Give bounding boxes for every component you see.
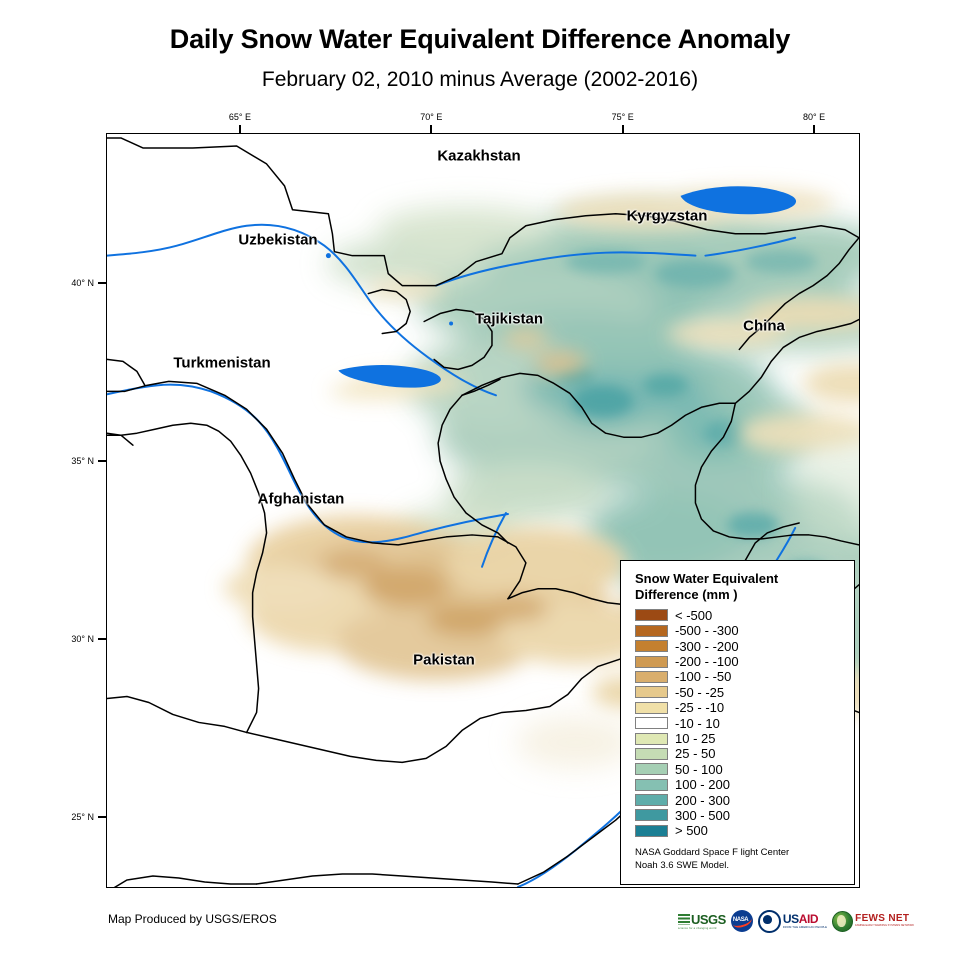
legend-row: 10 - 25 bbox=[635, 731, 844, 746]
legend-title: Snow Water Equivalent Difference (mm ) bbox=[635, 571, 844, 603]
lon-tick-mark-1 bbox=[430, 125, 432, 133]
lat-tick-mark-0 bbox=[98, 282, 106, 284]
legend-swatch bbox=[635, 779, 668, 791]
lat-tick-label-1: 35° N bbox=[58, 456, 94, 466]
map-legend: Snow Water Equivalent Difference (mm ) <… bbox=[620, 560, 855, 885]
legend-label: < -500 bbox=[675, 609, 712, 622]
legend-swatch bbox=[635, 625, 668, 637]
legend-label: 50 - 100 bbox=[675, 763, 723, 776]
legend-swatch bbox=[635, 686, 668, 698]
fews-wordmark: FEWS NET bbox=[855, 914, 914, 924]
legend-swatch bbox=[635, 640, 668, 652]
nasa-wordmark: NASA bbox=[733, 917, 748, 923]
legend-swatch bbox=[635, 825, 668, 837]
legend-label: > 500 bbox=[675, 824, 708, 837]
legend-swatch bbox=[635, 794, 668, 806]
lon-tick-label-2: 75° E bbox=[612, 112, 634, 122]
lat-tick-label-3: 25° N bbox=[58, 812, 94, 822]
lon-tick-label-3: 80° E bbox=[803, 112, 825, 122]
legend-label: 10 - 25 bbox=[675, 732, 715, 745]
usgs-logo: USGS science for a changing world bbox=[678, 909, 726, 933]
legend-label: 300 - 500 bbox=[675, 809, 730, 822]
legend-row: -50 - -25 bbox=[635, 685, 844, 700]
legend-row: -100 - -50 bbox=[635, 669, 844, 684]
legend-row: > 500 bbox=[635, 823, 844, 838]
country-label-kyrgyzstan: Kyrgyzstan bbox=[627, 208, 708, 225]
legend-label: -300 - -200 bbox=[675, 640, 739, 653]
usaid-seal-icon bbox=[758, 910, 781, 933]
legend-label: 25 - 50 bbox=[675, 747, 715, 760]
legend-label: -200 - -100 bbox=[675, 655, 739, 668]
legend-row: -500 - -300 bbox=[635, 623, 844, 638]
country-label-turkmenistan: Turkmenistan bbox=[173, 355, 270, 372]
legend-row: -10 - 10 bbox=[635, 715, 844, 730]
lon-tick-label-1: 70° E bbox=[420, 112, 442, 122]
country-label-kazakhstan: Kazakhstan bbox=[437, 148, 520, 165]
legend-swatch bbox=[635, 809, 668, 821]
legend-row: 300 - 500 bbox=[635, 808, 844, 823]
legend-title-line1: Snow Water Equivalent bbox=[635, 571, 844, 587]
legend-label: -100 - -50 bbox=[675, 670, 731, 683]
page-title: Daily Snow Water Equivalent Difference A… bbox=[0, 24, 960, 55]
usaid-tagline: FROM THE AMERICAN PEOPLE bbox=[783, 926, 827, 929]
legend-note-line2: Noah 3.6 SWE Model. bbox=[635, 859, 844, 873]
fews-tagline: FAMINE EARLY WARNING SYSTEMS NETWORK bbox=[855, 925, 914, 928]
country-label-pakistan: Pakistan bbox=[413, 652, 475, 669]
legend-swatch bbox=[635, 609, 668, 621]
legend-swatch bbox=[635, 702, 668, 714]
legend-note-line1: NASA Goddard Space F light Center bbox=[635, 846, 844, 860]
agency-logos: USGS science for a changing world NASA U… bbox=[678, 909, 914, 933]
legend-label: -500 - -300 bbox=[675, 624, 739, 637]
country-label-tajikistan: Tajikistan bbox=[475, 311, 543, 328]
fews-net-logo: FEWS NET FAMINE EARLY WARNING SYSTEMS NE… bbox=[832, 909, 914, 933]
usgs-wave-icon bbox=[678, 914, 690, 925]
nasa-logo: NASA bbox=[731, 910, 753, 932]
page-subtitle: February 02, 2010 minus Average (2002-20… bbox=[0, 68, 960, 92]
legend-row: -25 - -10 bbox=[635, 700, 844, 715]
legend-swatch bbox=[635, 763, 668, 775]
legend-row: 50 - 100 bbox=[635, 762, 844, 777]
lat-tick-mark-2 bbox=[98, 638, 106, 640]
legend-row: -200 - -100 bbox=[635, 654, 844, 669]
lon-tick-mark-0 bbox=[239, 125, 241, 133]
country-label-afghanistan: Afghanistan bbox=[258, 491, 345, 508]
lat-tick-mark-3 bbox=[98, 816, 106, 818]
usaid-wordmark-us: US bbox=[783, 912, 799, 926]
legend-label: -50 - -25 bbox=[675, 686, 724, 699]
country-label-uzbekistan: Uzbekistan bbox=[238, 232, 317, 249]
legend-swatch bbox=[635, 656, 668, 668]
country-label-china: China bbox=[743, 318, 785, 335]
legend-label: -10 - 10 bbox=[675, 717, 720, 730]
usgs-tagline: science for a changing world bbox=[678, 927, 716, 930]
legend-label: -25 - -10 bbox=[675, 701, 724, 714]
legend-class-list: < -500-500 - -300-300 - -200-200 - -100-… bbox=[635, 608, 844, 839]
usaid-wordmark-aid: AID bbox=[799, 912, 818, 926]
legend-swatch bbox=[635, 717, 668, 729]
legend-row: -300 - -200 bbox=[635, 639, 844, 654]
legend-row: 25 - 50 bbox=[635, 746, 844, 761]
legend-label: 200 - 300 bbox=[675, 794, 730, 807]
legend-row: 200 - 300 bbox=[635, 792, 844, 807]
lat-tick-mark-1 bbox=[98, 460, 106, 462]
lon-tick-label-0: 65° E bbox=[229, 112, 251, 122]
legend-swatch bbox=[635, 733, 668, 745]
legend-swatch bbox=[635, 671, 668, 683]
legend-swatch bbox=[635, 748, 668, 760]
usaid-logo: USAID FROM THE AMERICAN PEOPLE bbox=[758, 909, 827, 933]
legend-title-line2: Difference (mm ) bbox=[635, 587, 844, 603]
map-credit: Map Produced by USGS/EROS bbox=[108, 912, 277, 926]
legend-row: 100 - 200 bbox=[635, 777, 844, 792]
legend-source-note: NASA Goddard Space F light Center Noah 3… bbox=[635, 846, 844, 874]
lon-tick-mark-3 bbox=[813, 125, 815, 133]
usgs-wordmark: USGS bbox=[691, 913, 726, 926]
lat-tick-label-0: 40° N bbox=[58, 278, 94, 288]
lon-tick-mark-2 bbox=[622, 125, 624, 133]
legend-label: 100 - 200 bbox=[675, 778, 730, 791]
lat-tick-label-2: 30° N bbox=[58, 634, 94, 644]
legend-row: < -500 bbox=[635, 608, 844, 623]
fews-globe-icon bbox=[832, 911, 853, 932]
